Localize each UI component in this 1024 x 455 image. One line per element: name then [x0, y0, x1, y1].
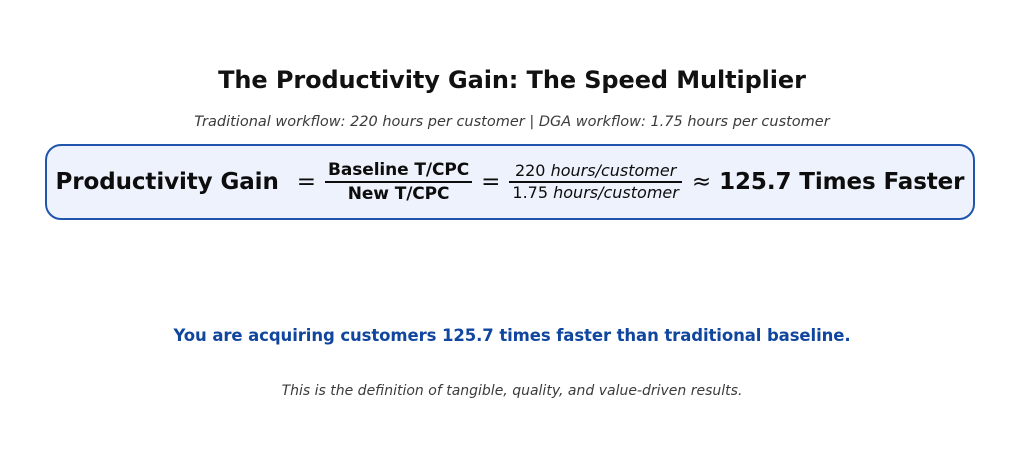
symbolic-fraction-numerator: Baseline T/CPC	[325, 161, 472, 179]
symbolic-fraction: Baseline T/CPC New T/CPC	[325, 161, 472, 203]
productivity-gain-equation: Productivity Gain = Baseline T/CPC New T…	[56, 161, 965, 203]
formula-callout-box: Productivity Gain = Baseline T/CPC New T…	[45, 144, 975, 220]
numerator-unit: hours/customer	[545, 161, 676, 180]
page-title: The Productivity Gain: The Speed Multipl…	[0, 66, 1024, 94]
symbolic-fraction-denominator: New T/CPC	[345, 185, 453, 203]
approximately-equal-icon: ≈	[682, 169, 719, 195]
denominator-value: 1.75	[512, 183, 548, 202]
footnote-text: This is the definition of tangible, qual…	[0, 383, 1024, 399]
numerator-value: 220	[515, 161, 546, 180]
callout-statement: You are acquiring customers 125.7 times …	[0, 326, 1024, 345]
numeric-fraction-denominator: 1.75 hours/customer	[509, 184, 681, 201]
equals-sign-second: =	[472, 169, 509, 195]
fraction-rule	[325, 181, 472, 184]
equation-left-hand-side: Productivity Gain	[56, 169, 288, 195]
denominator-unit: hours/customer	[548, 183, 679, 202]
numeric-fraction: 220 hours/customer 1.75 hours/customer	[509, 162, 681, 201]
equation-result: 125.7 Times Faster	[719, 169, 964, 195]
numeric-fraction-numerator: 220 hours/customer	[512, 162, 679, 179]
page-subtitle: Traditional workflow: 220 hours per cust…	[0, 114, 1024, 130]
equals-sign-first: =	[288, 169, 325, 195]
